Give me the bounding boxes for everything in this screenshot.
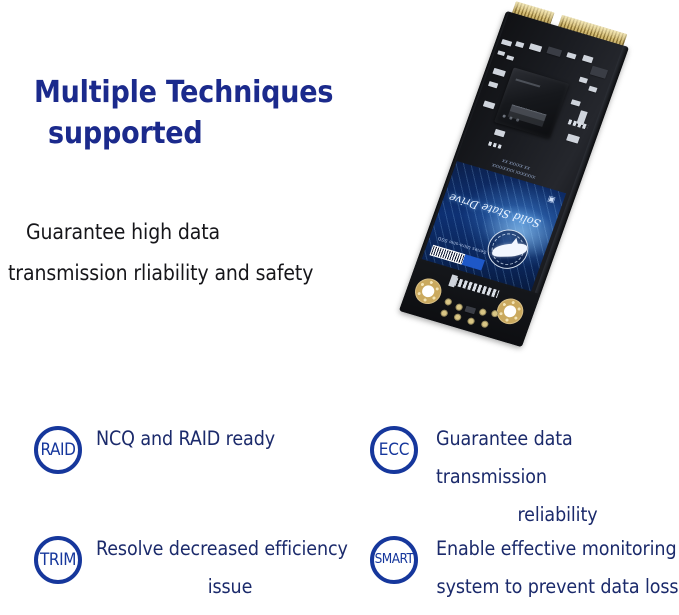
- trim-badge-icon: TRIM: [34, 536, 82, 584]
- smd-component: [488, 81, 498, 88]
- subheading-line-1: Guarantee high data: [8, 212, 368, 253]
- test-pad: [453, 313, 462, 322]
- smd-component: [529, 43, 543, 52]
- product-image: XXXXXXX XXXXXXXX XX XXXXX XX ▣ Solid Sta…: [398, 0, 679, 362]
- feature-line-1: NCQ and RAID ready: [96, 420, 364, 458]
- feature-item-trim: TRIM Resolve decreased efficiency issue: [34, 530, 364, 606]
- test-pad: [440, 309, 449, 318]
- smd-component: [582, 55, 594, 63]
- smd-component: [492, 68, 506, 77]
- mounting-hole-vias: [414, 278, 443, 305]
- feature-line-1: Enable effective monitoring: [436, 530, 679, 568]
- feature-text-trim: Resolve decreased efficiency issue: [82, 530, 364, 606]
- test-pad: [455, 303, 464, 312]
- smd-component: [571, 99, 581, 106]
- pcb-substrate: XXXXXXX XXXXXXXX XX XXXXX XX ▣ Solid Sta…: [399, 11, 629, 347]
- smd-component: [546, 46, 562, 57]
- test-pad: [478, 308, 487, 317]
- subheading: Guarantee high data transmission rliabil…: [8, 212, 368, 294]
- feature-item-smart: SMART Enable effective monitoring system…: [370, 530, 679, 606]
- smd-component: [464, 306, 476, 314]
- ssd-board: XXXXXXX XXXXXXXX XX XXXXX XX ▣ Solid Sta…: [399, 11, 629, 347]
- feature-grid: RAID NCQ and RAID ready ECC Guarantee da…: [0, 404, 679, 615]
- feature-text-raid: NCQ and RAID ready: [82, 420, 364, 458]
- feature-line-1: Resolve decreased efficiency: [96, 530, 364, 568]
- smart-badge-icon: SMART: [370, 536, 418, 584]
- smd-component: [590, 66, 608, 79]
- smd-component: [501, 39, 512, 47]
- smd-component: [566, 52, 576, 59]
- test-pad: [480, 320, 489, 329]
- smd-component: [483, 100, 496, 109]
- smd-component: [506, 55, 514, 61]
- page-title-line-1: Multiple Techniques: [34, 75, 333, 110]
- feature-line-1: Guarantee data transmission: [436, 420, 679, 496]
- feature-item-ecc: ECC Guarantee data transmission reliabil…: [370, 420, 679, 534]
- feature-line-2: issue: [96, 568, 364, 606]
- chip-pin1-dots: [502, 114, 506, 118]
- mounting-hole-vias: [496, 298, 525, 325]
- test-pad: [467, 317, 476, 326]
- page-title: Multiple Techniques supported: [34, 72, 364, 155]
- pad-row: [453, 277, 500, 298]
- smd-component: [579, 77, 588, 84]
- feature-item-raid: RAID NCQ and RAID ready: [34, 420, 364, 474]
- test-pad: [444, 298, 453, 307]
- chip-marking: [507, 78, 560, 116]
- smd-component: [497, 50, 505, 56]
- smd-component: [588, 86, 597, 93]
- badge-label: RAID: [28, 426, 88, 474]
- smd-component: [515, 41, 524, 48]
- ecc-badge-icon: ECC: [370, 426, 418, 474]
- smd-component: [566, 134, 580, 144]
- subheading-line-2: transmission rliability and safety: [8, 253, 368, 294]
- smd-component: [494, 129, 506, 137]
- feature-text-smart: Enable effective monitoring system to pr…: [418, 530, 679, 606]
- badge-label: SMART: [364, 536, 424, 584]
- badge-label: ECC: [364, 426, 424, 474]
- badge-label: TRIM: [28, 536, 88, 584]
- page-title-line-2: supported: [34, 113, 364, 154]
- feature-line-2: system to prevent data loss: [436, 568, 679, 606]
- nand-flash-chip: [494, 67, 569, 138]
- feature-line-2: reliability: [436, 496, 679, 534]
- feature-text-ecc: Guarantee data transmission reliability: [418, 420, 679, 534]
- raid-badge-icon: RAID: [34, 426, 82, 474]
- mounting-hole-left: [411, 275, 445, 307]
